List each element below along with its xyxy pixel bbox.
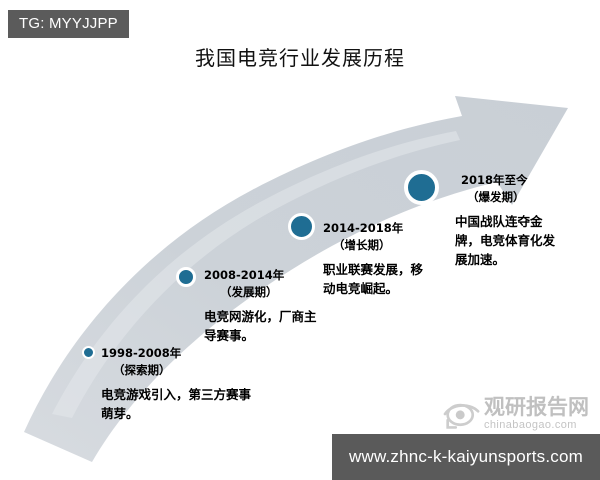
milestone-2-description: 电竞网游化，厂商主导赛事。 — [204, 307, 326, 345]
footer-url-text: www.zhnc-k-kaiyunsports.com — [349, 447, 583, 467]
milestone-4-description: 中国战队连夺金牌，电竞体育化发展加速。 — [455, 212, 555, 269]
timeline-marker-3 — [288, 213, 315, 240]
diagram-canvas: TG: MYYJJPP 我国电竞行业发展历程 1998-2008年 （探索期） … — [0, 0, 600, 480]
timeline-marker-4 — [404, 170, 439, 205]
milestone-4-phase: （爆发期） — [455, 189, 575, 206]
milestone-3-description: 职业联赛发展，移动电竞崛起。 — [323, 260, 423, 298]
milestone-3-period: 2014-2018年 — [323, 220, 443, 237]
timeline-marker-2 — [176, 267, 196, 287]
milestone-1: 1998-2008年 （探索期） 电竞游戏引入，第三方赛事萌芽。 — [101, 345, 251, 423]
footer-url-bar: www.zhnc-k-kaiyunsports.com — [332, 434, 600, 480]
timeline-marker-1 — [82, 346, 95, 359]
milestone-3-phase: （增长期） — [323, 237, 443, 254]
milestone-1-period: 1998-2008年 — [101, 345, 251, 362]
tg-tag: TG: MYYJJPP — [8, 10, 129, 38]
milestone-4-period: 2018年至今 — [455, 172, 575, 189]
milestone-3: 2014-2018年 （增长期） 职业联赛发展，移动电竞崛起。 — [323, 220, 443, 298]
page-title: 我国电竞行业发展历程 — [0, 42, 600, 71]
milestone-1-description: 电竞游戏引入，第三方赛事萌芽。 — [101, 385, 251, 423]
milestone-1-phase: （探索期） — [101, 362, 251, 379]
milestone-4: 2018年至今 （爆发期） 中国战队连夺金牌，电竞体育化发展加速。 — [455, 172, 575, 269]
